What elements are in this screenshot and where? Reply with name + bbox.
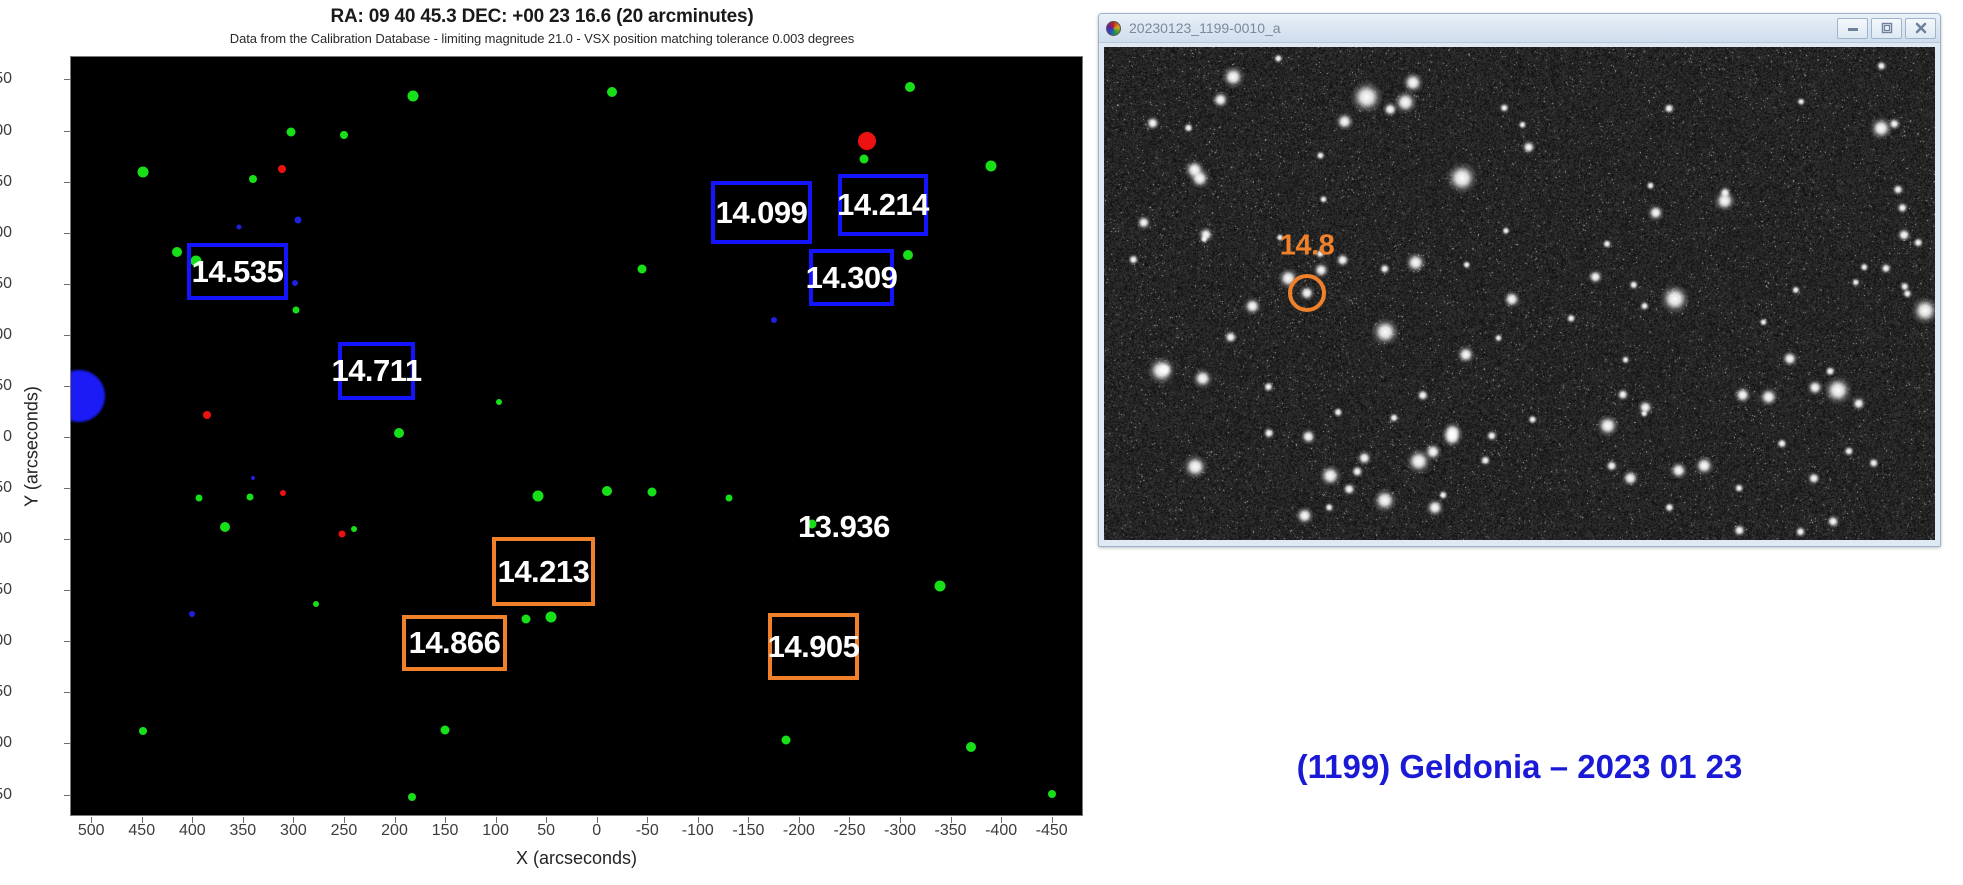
y-tick-label: 250 xyxy=(0,173,12,191)
y-tick-label: 350 xyxy=(0,70,12,88)
x-tick-mark xyxy=(445,817,446,823)
color-wheel-icon xyxy=(1106,21,1121,36)
star-marker xyxy=(781,736,790,745)
star-marker xyxy=(966,742,976,752)
y-tick-label: -300 xyxy=(0,734,12,752)
fits-image-canvas[interactable]: 14.8 xyxy=(1104,47,1935,540)
star-marker xyxy=(251,476,255,480)
x-axis-label: X (arcseconds) xyxy=(70,848,1083,869)
chart-title: RA: 09 40 45.3 DEC: +00 23 16.6 (20 arcm… xyxy=(0,6,1084,28)
y-tick-label: -200 xyxy=(0,632,12,650)
star-marker xyxy=(602,486,612,496)
star-marker xyxy=(648,488,657,497)
x-tick-mark xyxy=(1001,817,1002,823)
star-marker xyxy=(246,494,253,501)
magnitude-label: 14.535 xyxy=(187,243,288,300)
target-marker-circle xyxy=(1288,274,1326,312)
star-marker xyxy=(220,522,230,532)
figure-caption: (1199) Geldonia – 2023 01 23 xyxy=(1098,748,1941,786)
x-tick-mark xyxy=(496,817,497,823)
star-marker xyxy=(293,307,300,314)
minimize-button[interactable] xyxy=(1837,18,1868,39)
x-tick-mark xyxy=(142,817,143,823)
x-tick-mark xyxy=(344,817,345,823)
star-marker xyxy=(236,224,241,229)
star-marker xyxy=(172,247,182,257)
magnitude-label: 14.309 xyxy=(809,249,894,306)
plot-area[interactable]: 14.53514.71114.09914.21414.30913.93614.2… xyxy=(70,56,1083,816)
x-tick-label: -450 xyxy=(1017,822,1087,840)
star-marker xyxy=(986,161,997,172)
window-title: 20230123_1199-0010_a xyxy=(1129,20,1281,36)
star-marker xyxy=(638,265,647,274)
star-marker xyxy=(935,581,946,592)
magnitude-label: 13.936 xyxy=(798,509,890,545)
x-tick-mark xyxy=(395,817,396,823)
x-tick-mark xyxy=(799,817,800,823)
y-tick-label: -50 xyxy=(0,479,12,497)
x-tick-mark xyxy=(900,817,901,823)
star-marker xyxy=(189,611,195,617)
y-tick-label: 50 xyxy=(0,377,12,395)
y-tick-label: 100 xyxy=(0,326,12,344)
y-tick-label: 0 xyxy=(0,428,12,446)
fits-image-window[interactable]: 20230123_1199-0010_a xyxy=(1098,13,1941,547)
star-marker xyxy=(70,370,105,422)
x-tick-mark xyxy=(192,817,193,823)
star-marker xyxy=(137,167,148,178)
x-tick-mark xyxy=(698,817,699,823)
star-marker xyxy=(905,82,915,92)
fits-pixels xyxy=(1104,47,1935,540)
star-marker xyxy=(546,611,557,622)
y-tick-label: -100 xyxy=(0,530,12,548)
star-marker xyxy=(196,495,203,502)
maximize-button[interactable] xyxy=(1871,18,1902,39)
star-marker xyxy=(249,175,257,183)
star-field-chart-panel: RA: 09 40 45.3 DEC: +00 23 16.6 (20 arcm… xyxy=(0,0,1100,885)
star-marker xyxy=(338,531,345,538)
star-marker xyxy=(858,132,876,150)
x-tick-mark xyxy=(849,817,850,823)
star-marker xyxy=(407,90,418,101)
star-marker xyxy=(533,491,544,502)
magnitude-label: 14.214 xyxy=(838,174,928,236)
y-axis-label: Y (arcseconds) xyxy=(22,67,43,827)
magnitude-label: 14.213 xyxy=(492,537,595,606)
star-marker xyxy=(1048,790,1056,798)
star-marker xyxy=(394,428,404,438)
screenshot-root: RA: 09 40 45.3 DEC: +00 23 16.6 (20 arcm… xyxy=(0,0,1963,885)
magnitude-label: 14.866 xyxy=(402,615,507,671)
star-marker xyxy=(351,526,357,532)
magnitude-label: 14.711 xyxy=(338,342,415,400)
star-marker xyxy=(340,131,348,139)
star-marker xyxy=(295,217,302,224)
star-marker xyxy=(313,601,319,607)
y-tick-label: 150 xyxy=(0,275,12,293)
close-button[interactable] xyxy=(1905,18,1936,39)
x-tick-mark xyxy=(951,817,952,823)
x-tick-mark xyxy=(91,817,92,823)
y-tick-label: -350 xyxy=(0,786,12,804)
window-buttons xyxy=(1837,18,1936,39)
star-marker xyxy=(521,614,530,623)
star-marker xyxy=(292,280,298,286)
star-marker xyxy=(903,250,913,260)
star-marker xyxy=(408,793,416,801)
x-tick-mark xyxy=(647,817,648,823)
x-tick-mark xyxy=(293,817,294,823)
window-titlebar[interactable]: 20230123_1199-0010_a xyxy=(1099,14,1940,43)
y-tick-label: -250 xyxy=(0,683,12,701)
target-magnitude-label: 14.8 xyxy=(1280,230,1334,263)
star-marker xyxy=(859,155,868,164)
chart-subtitle: Data from the Calibration Database - lim… xyxy=(0,31,1084,46)
star-marker xyxy=(771,317,777,323)
star-marker xyxy=(139,727,147,735)
star-marker xyxy=(726,495,733,502)
magnitude-label: 14.905 xyxy=(768,613,859,680)
y-tick-label: 300 xyxy=(0,122,12,140)
x-tick-mark xyxy=(1052,817,1053,823)
star-marker xyxy=(287,127,296,136)
star-marker xyxy=(278,165,286,173)
star-marker xyxy=(496,399,502,405)
star-marker xyxy=(203,411,211,419)
x-tick-mark xyxy=(597,817,598,823)
magnitude-label: 14.099 xyxy=(711,181,812,244)
x-tick-mark xyxy=(748,817,749,823)
star-marker xyxy=(607,87,617,97)
star-marker xyxy=(280,490,286,496)
x-tick-mark xyxy=(546,817,547,823)
y-tick-label: 200 xyxy=(0,224,12,242)
star-marker xyxy=(441,726,450,735)
x-tick-mark xyxy=(243,817,244,823)
y-tick-label: -150 xyxy=(0,581,12,599)
